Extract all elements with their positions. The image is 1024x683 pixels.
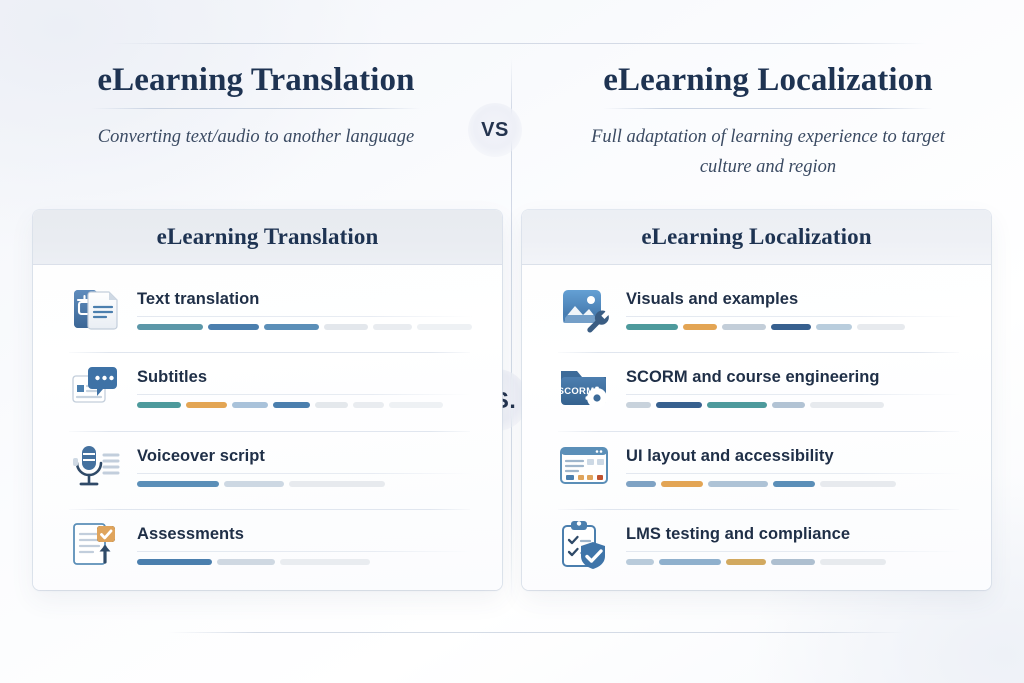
progress-bar (137, 402, 472, 408)
list-item-rule (626, 551, 961, 552)
list-item-label: UI layout and accessibility (626, 447, 961, 466)
vs-badge-top: VS (468, 103, 522, 157)
progress-segment (816, 324, 852, 330)
progress-segment (708, 481, 768, 487)
ui-window-icon (556, 438, 612, 494)
progress-segment (353, 402, 384, 408)
progress-segment (771, 324, 811, 330)
card-translation-title: eLearning Translation (157, 224, 379, 250)
list-item[interactable]: Assessments (67, 509, 472, 581)
list-item-label: Visuals and examples (626, 290, 961, 309)
progress-segment (707, 402, 767, 408)
list-item[interactable]: Voiceover script (67, 431, 472, 503)
progress-segment (217, 559, 275, 565)
progress-segment (273, 402, 310, 408)
list-item-rule (137, 551, 472, 552)
card-translation: eLearning Translation (33, 210, 502, 590)
progress-bar (626, 402, 961, 408)
card-localization-title: eLearning Localization (641, 224, 871, 250)
list-item[interactable]: LMS testing and compliance (556, 509, 961, 581)
progress-segment (626, 559, 654, 565)
list-item[interactable]: UI layout and accessibility (556, 431, 961, 503)
progress-segment (280, 559, 370, 565)
progress-segment (659, 559, 721, 565)
progress-segment (315, 402, 348, 408)
progress-segment (264, 324, 319, 330)
top-divider-line (112, 43, 926, 44)
progress-segment (289, 481, 385, 487)
scorm-folder-gear-icon: SCORM (556, 359, 612, 415)
list-item[interactable]: SCORM SCORM and course en (556, 352, 961, 424)
list-item-label: SCORM and course engineering (626, 368, 961, 387)
header-right-subtitle: Full adaptation of learning experience t… (578, 122, 958, 182)
progress-segment (417, 324, 472, 330)
image-wrench-icon (556, 281, 612, 337)
progress-segment (772, 402, 805, 408)
progress-segment (232, 402, 268, 408)
progress-segment (389, 402, 443, 408)
list-item-content: SCORM and course engineering (626, 366, 961, 408)
list-item-label: Voiceover script (137, 447, 472, 466)
card-translation-header: eLearning Translation (33, 210, 502, 265)
progress-bar (626, 324, 961, 330)
list-item-content: Voiceover script (137, 445, 472, 487)
list-item-rule (137, 394, 472, 395)
list-item-content: Text translation (137, 288, 472, 330)
list-item-content: LMS testing and compliance (626, 523, 961, 565)
list-item-label: Subtitles (137, 368, 472, 387)
list-item[interactable]: Subtitles (67, 352, 472, 424)
list-item[interactable]: Visuals and examples (556, 274, 961, 346)
progress-segment (820, 481, 896, 487)
progress-segment (857, 324, 905, 330)
progress-segment (626, 481, 656, 487)
progress-bar (137, 559, 472, 565)
list-item-content: UI layout and accessibility (626, 445, 961, 487)
progress-segment (137, 324, 203, 330)
card-localization-header: eLearning Localization (522, 210, 991, 265)
list-item-rule (626, 316, 961, 317)
card-localization: eLearning Localization (522, 210, 991, 590)
header-right-underline (603, 108, 933, 109)
infographic-canvas: eLearning Translation Converting text/au… (0, 0, 1024, 683)
card-localization-body: Visuals and examples (522, 265, 991, 590)
list-item-content: Subtitles (137, 366, 472, 408)
progress-segment (137, 402, 181, 408)
progress-bar (626, 481, 961, 487)
header-left-title: eLearning Translation (97, 60, 414, 101)
list-item-rule (137, 316, 472, 317)
progress-segment (137, 559, 212, 565)
progress-segment (771, 559, 815, 565)
comparison-cards: eLearning Translation (33, 210, 991, 590)
progress-segment (722, 324, 766, 330)
header-right: eLearning Localization Full adaptation o… (512, 60, 1024, 200)
progress-segment (137, 481, 219, 487)
progress-segment (726, 559, 766, 565)
progress-segment (186, 402, 227, 408)
progress-segment (773, 481, 815, 487)
list-item-label: Assessments (137, 525, 472, 544)
list-item-label: Text translation (137, 290, 472, 309)
list-item-rule (626, 473, 961, 474)
progress-segment (683, 324, 717, 330)
list-item-content: Visuals and examples (626, 288, 961, 330)
microphone-icon (67, 438, 123, 494)
assessment-check-icon (67, 516, 123, 572)
progress-segment (373, 324, 412, 330)
progress-segment (626, 324, 678, 330)
progress-segment (810, 402, 884, 408)
list-item[interactable]: Text translation (67, 274, 472, 346)
progress-segment (626, 402, 651, 408)
progress-bar (137, 481, 472, 487)
progress-bar (626, 559, 961, 565)
list-item-content: Assessments (137, 523, 472, 565)
progress-segment (208, 324, 259, 330)
list-item-label: LMS testing and compliance (626, 525, 961, 544)
progress-bar (137, 324, 472, 330)
card-translation-body: Text translation (33, 265, 502, 590)
header-right-title: eLearning Localization (603, 60, 932, 101)
header-left-subtitle: Converting text/audio to another languag… (98, 122, 415, 152)
progress-segment (820, 559, 886, 565)
list-item-rule (137, 473, 472, 474)
list-item-rule (626, 394, 961, 395)
subtitle-chat-icon (67, 359, 123, 415)
progress-segment (656, 402, 702, 408)
bottom-divider-line (168, 632, 904, 633)
header-left-underline (91, 108, 421, 109)
header-left: eLearning Translation Converting text/au… (0, 60, 512, 200)
clipboard-shield-icon (556, 516, 612, 572)
progress-segment (324, 324, 369, 330)
document-translate-icon (67, 281, 123, 337)
progress-segment (661, 481, 703, 487)
progress-segment (224, 481, 284, 487)
